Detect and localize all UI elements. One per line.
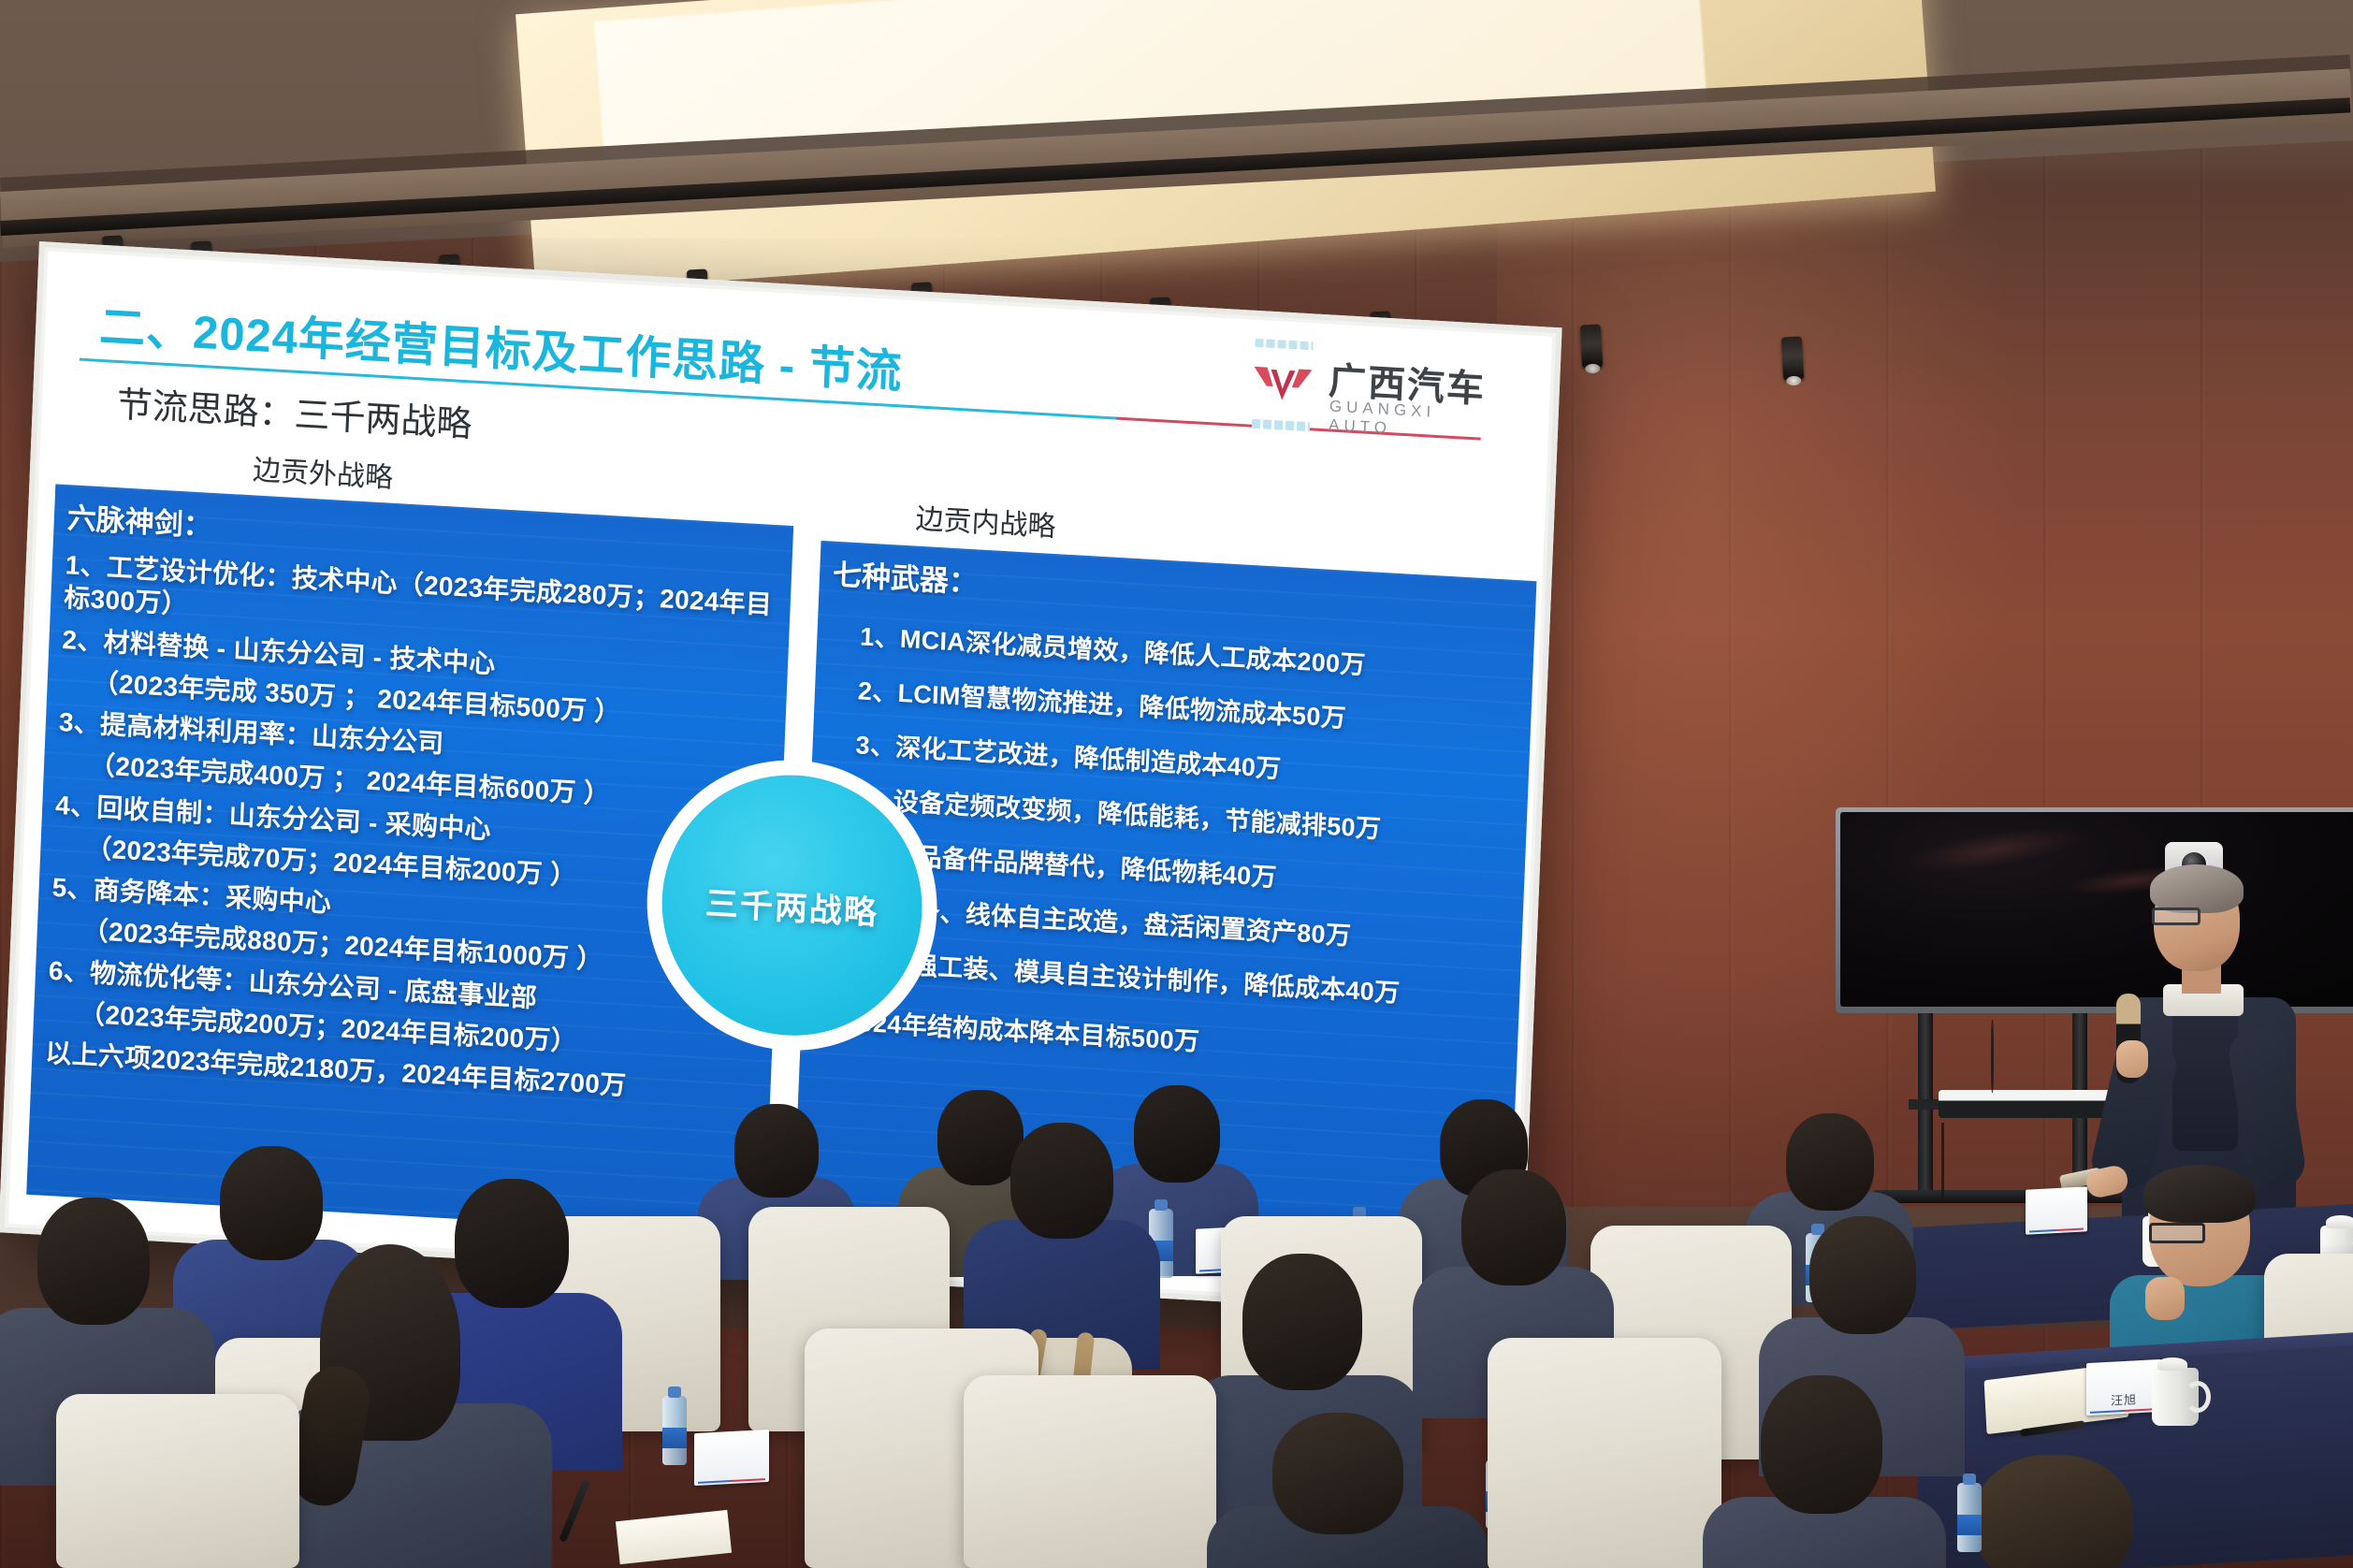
list-item: 2、LCIM智慧物流推进，降低物流成本50万 [857,675,1518,744]
attendee [964,1123,1160,1357]
conference-room-photo: 二、2024年经营目标及工作思路 - 节流 广西汽车 GUANGXI AUTO … [0,0,2353,1568]
soundbar-device [1939,1090,2116,1118]
list-item: 5、备品备件品牌替代，降低物耗40万 [850,837,1511,907]
name-card-stripe [2029,1227,2084,1232]
slide-subtitle: 节流思路：三千两战略 [116,375,473,447]
tea-cup [2152,1368,2199,1426]
attendee-head [1242,1254,1362,1390]
right-panel-heading: 七种武器： [819,541,1536,636]
water-bottle [1957,1483,1982,1552]
list-item: 6、设备、线体自主改造，盘活闲置资产80万 [849,892,1509,961]
speaker-sweater [2172,1010,2238,1151]
attendee-head [1974,1455,2133,1568]
list-item: 4、设备定频改变频，降低能耗，节能减排50万 [853,783,1514,852]
attendee-head [1461,1169,1566,1285]
tv-reflection [1904,819,2084,879]
attendee-head [1809,1216,1916,1334]
logo-bar-top [1255,339,1313,351]
attendee-head [734,1104,819,1198]
speaker-hand-left [2116,1040,2148,1078]
name-card: 汪旭 [2086,1359,2161,1416]
chair [56,1394,299,1568]
water-bottle [662,1396,687,1465]
attendee-head [1786,1113,1874,1211]
cable [1991,1020,1994,1093]
chair [1488,1338,1721,1568]
column-header-right: 边贡内战略 [915,496,1057,544]
attendee [1703,1375,1946,1568]
speaker-hair [2150,864,2244,913]
attendee-hand [2145,1277,2185,1320]
track-spotlight-icon [1781,336,1804,380]
name-card [694,1430,769,1486]
center-circle-label: 三千两战略 [704,877,879,934]
attendee [1207,1413,1488,1568]
attendee-head [37,1198,150,1325]
attendee-head [220,1146,323,1260]
company-logo: 广西汽车 GUANGXI AUTO [1246,339,1498,443]
cable [1941,1123,1944,1203]
attendee-head [1761,1375,1882,1514]
chair [964,1375,1216,1568]
attendee-head [1272,1413,1403,1534]
attendee-head [1010,1123,1113,1239]
right-panel-footer: 2024年结构成本降本目标500万 [844,1006,1504,1075]
glasses-icon [2152,907,2200,925]
column-header-left: 边贡外战略 [252,446,394,495]
attendee-hair [2143,1165,2256,1223]
list-item: 3、深化工艺改进，降低制造成本40万 [855,729,1516,798]
name-card-text: 汪旭 [2086,1388,2161,1410]
name-card [2026,1186,2087,1234]
list-item: 1、MCIA深化减员增效，降低人工成本200万 [860,620,1520,690]
logo-bar-bottom [1252,419,1310,432]
list-item: 7、加强工装、模具自主设计制作，降低成本40万 [846,946,1506,1015]
glasses-icon [2149,1223,2205,1243]
track-spotlight-icon [1580,324,1603,368]
attendee-writing [281,1244,552,1568]
v-mark-icon [1247,352,1319,417]
